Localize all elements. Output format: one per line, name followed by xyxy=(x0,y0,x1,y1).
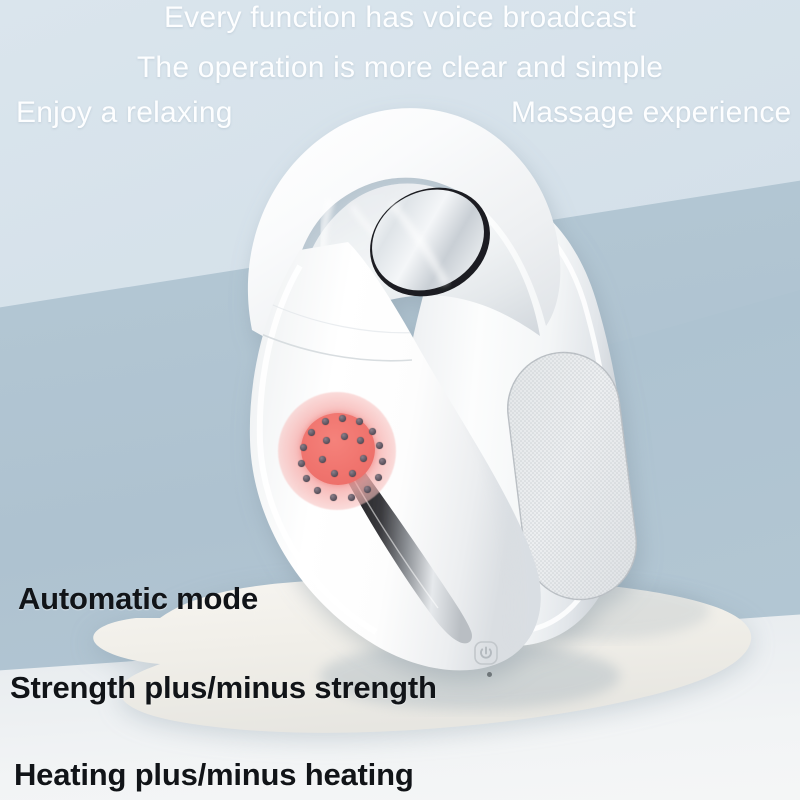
led-indicator xyxy=(487,672,492,677)
device-body xyxy=(248,108,650,670)
power-icon[interactable] xyxy=(473,640,499,666)
neck-massager-device xyxy=(0,0,800,800)
product-feature-image: Every function has voice broadcast The o… xyxy=(0,0,800,800)
